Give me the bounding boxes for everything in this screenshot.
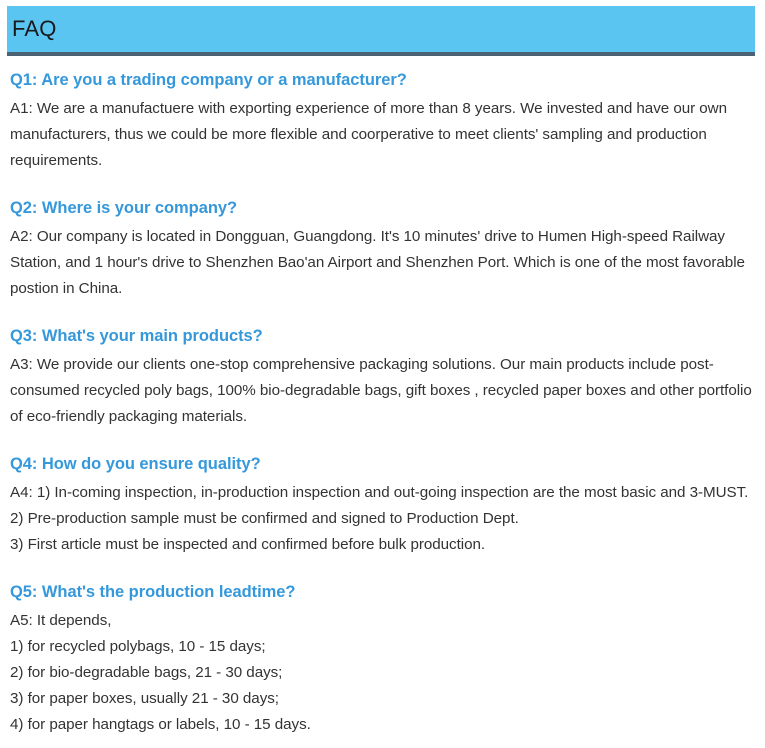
faq-question: Q2: Where is your company? — [10, 196, 755, 221]
faq-question: Q5: What's the production leadtime? — [10, 580, 755, 605]
faq-answer-line: A1: We are a manufactuere with exporting… — [10, 96, 755, 174]
faq-answer-line: 4) for paper hangtags or labels, 10 - 15… — [10, 712, 755, 738]
faq-question: Q4: How do you ensure quality? — [10, 452, 755, 477]
faq-item: Q5: What's the production leadtime?A5: I… — [10, 580, 755, 738]
faq-answer: A2: Our company is located in Dongguan, … — [10, 224, 755, 302]
faq-page: FAQ Q1: Are you a trading company or a m… — [0, 0, 765, 748]
faq-item: Q2: Where is your company?A2: Our compan… — [10, 196, 755, 302]
faq-question: Q1: Are you a trading company or a manuf… — [10, 68, 755, 93]
faq-answer-line: 2) Pre-production sample must be confirm… — [10, 506, 755, 532]
faq-answer-line: 1) for recycled polybags, 10 - 15 days; — [10, 634, 755, 660]
faq-list: Q1: Are you a trading company or a manuf… — [10, 68, 755, 738]
page-title: FAQ — [12, 16, 57, 42]
faq-answer: A3: We provide our clients one-stop comp… — [10, 352, 755, 430]
faq-header-banner: FAQ — [7, 6, 755, 56]
faq-answer: A5: It depends,1) for recycled polybags,… — [10, 608, 755, 738]
faq-answer-line: 3) First article must be inspected and c… — [10, 532, 755, 558]
faq-answer-line: 3) for paper boxes, usually 21 - 30 days… — [10, 686, 755, 712]
faq-answer-line: A5: It depends, — [10, 608, 755, 634]
faq-item: Q3: What's your main products?A3: We pro… — [10, 324, 755, 430]
faq-answer: A4: 1) In-coming inspection, in-producti… — [10, 480, 755, 558]
faq-answer-line: 2) for bio-degradable bags, 21 - 30 days… — [10, 660, 755, 686]
faq-item: Q1: Are you a trading company or a manuf… — [10, 68, 755, 174]
faq-answer-line: A3: We provide our clients one-stop comp… — [10, 352, 755, 430]
faq-answer-line: A4: 1) In-coming inspection, in-producti… — [10, 480, 755, 506]
faq-item: Q4: How do you ensure quality?A4: 1) In-… — [10, 452, 755, 558]
faq-question: Q3: What's your main products? — [10, 324, 755, 349]
faq-answer: A1: We are a manufactuere with exporting… — [10, 96, 755, 174]
faq-answer-line: A2: Our company is located in Dongguan, … — [10, 224, 755, 302]
